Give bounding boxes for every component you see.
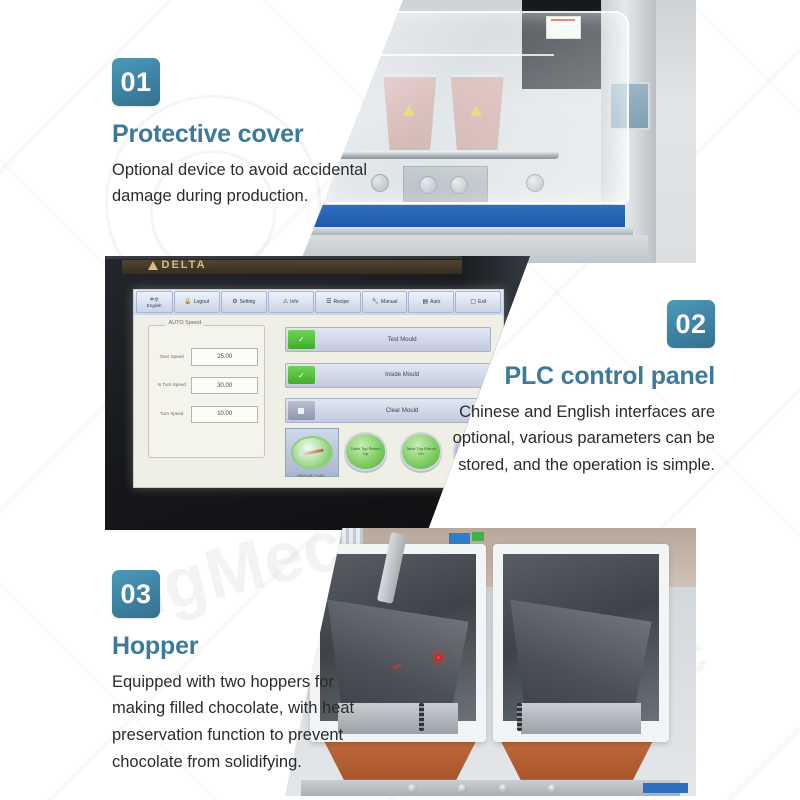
param-label: Turn Speed: [155, 412, 188, 417]
section-number-badge-02: 02: [667, 300, 715, 348]
toolbar-button-language[interactable]: 中文 English: [136, 291, 173, 313]
toolbar-button-setting[interactable]: ⚙ Setting: [221, 291, 267, 313]
lock-icon: 🔒: [184, 299, 191, 305]
delta-brand-text: DELTA: [162, 259, 207, 271]
section-02: 02 PLC control panel Chinese and English…: [440, 300, 715, 479]
wrench-icon: 🔧: [372, 299, 379, 305]
hopper-base-frame: [301, 780, 679, 796]
section-title-02: PLC control panel: [440, 362, 715, 391]
round-button-table-top-return-up[interactable]: Table Top Return Up: [344, 432, 387, 471]
param-label: In Turn Speed: [155, 383, 188, 388]
checkbox-unchecked-icon[interactable]: [288, 401, 314, 420]
param-value-field[interactable]: 30.00: [191, 377, 258, 394]
delta-brand-logo: DELTA: [148, 259, 207, 271]
laser-dot: [435, 654, 442, 661]
selector-knob-icon: [291, 436, 332, 469]
checkbox-checked-icon[interactable]: ✓: [288, 366, 314, 385]
section-number-badge-03: 03: [112, 570, 160, 618]
section-03: 03 Hopper Equipped with two hoppers for …: [112, 570, 362, 776]
param-row: Turn Speed 10.00: [155, 404, 258, 424]
param-value-field[interactable]: 10.00: [191, 406, 258, 423]
blue-clip: [449, 533, 470, 544]
auto-icon: ▤: [422, 299, 428, 305]
section-body-03: Equipped with two hoppers for making fil…: [112, 669, 362, 776]
param-label: Over Speed: [155, 355, 188, 360]
param-row: Over Speed 25.00: [155, 347, 258, 367]
section-number-badge-01: 01: [112, 58, 160, 106]
manual-auto-selector[interactable]: [285, 428, 339, 477]
warning-icon: ⚠: [283, 299, 288, 305]
auto-speed-group-title: AUTO Speed: [165, 320, 204, 326]
gear-icon: ⚙: [232, 299, 237, 305]
round-button-table-top-return-on[interactable]: Table Top Return On: [400, 432, 443, 471]
toolbar-button-logout[interactable]: 🔒 Logout: [174, 291, 220, 313]
infographic-page: ngMec ngMec ngMec: [0, 0, 800, 800]
section-body-01: Optional device to avoid accidental dama…: [112, 157, 372, 210]
checkbox-checked-icon[interactable]: ✓: [288, 330, 314, 349]
toolbar-button-manual[interactable]: 🔧 Manual: [362, 291, 408, 313]
blue-machine-part: [643, 783, 688, 794]
toolbar-button-recipe[interactable]: ☰ Recipe: [315, 291, 361, 313]
param-value-field[interactable]: 25.00: [191, 348, 258, 365]
heating-jacket: [499, 737, 655, 780]
hopper-right: [493, 544, 670, 742]
manual-auto-selector-label: Manual / Auto: [285, 473, 337, 478]
delta-triangle-icon: [148, 261, 158, 270]
section-title-01: Protective cover: [112, 120, 372, 149]
auto-speed-parameter-group: AUTO Speed Over Speed 25.00 In Turn Spee…: [148, 325, 265, 457]
section-body-02: Chinese and English interfaces are optio…: [440, 399, 715, 479]
toolbar-button-info[interactable]: ⚠ Info: [268, 291, 314, 313]
section-title-03: Hopper: [112, 632, 362, 661]
param-row: In Turn Speed 30.00: [155, 376, 258, 396]
section-01: 01 Protective cover Optional device to a…: [112, 58, 372, 210]
recipe-icon: ☰: [326, 299, 331, 305]
green-clip: [472, 532, 484, 541]
